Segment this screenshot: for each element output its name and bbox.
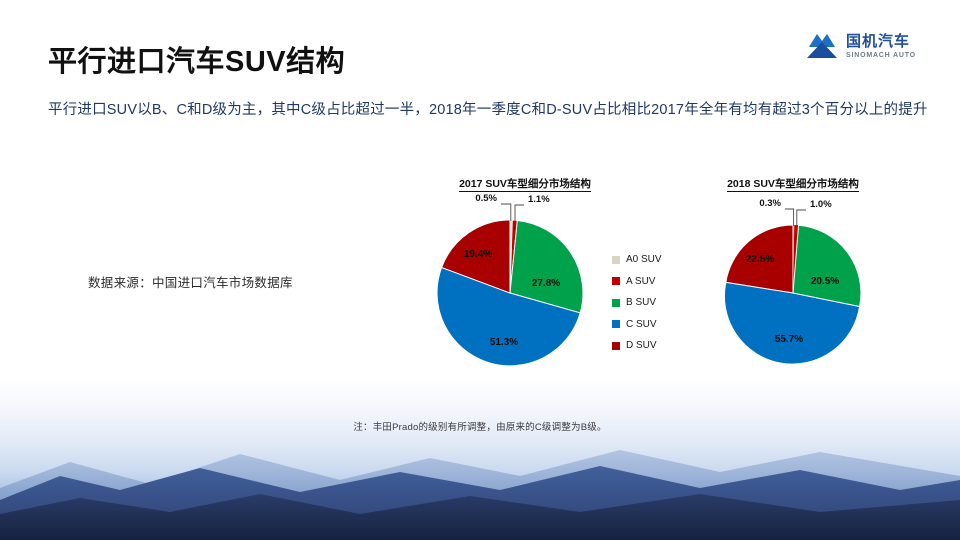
pie-2018-svg: 0.3% 1.0% 20.5% 55.7% 22.5% — [688, 190, 898, 376]
legend-label-c: C SUV — [626, 319, 657, 330]
chart-legend: A0 SUV A SUV B SUV C SUV D SUV — [612, 254, 662, 351]
label-a0-2018: 0.3% — [759, 198, 781, 209]
data-source-label: 数据来源：中国进口汽车市场数据库 — [88, 272, 293, 291]
mountain-ridges-icon — [0, 380, 960, 540]
slide-canvas: T OP 100 2018中国汽车经销商集团百强排行榜 LIST OF CHIN… — [0, 0, 960, 540]
page-subtitle: 平行进口SUV以B、C和D级为主，其中C级占比超过一半，2018年一季度C和D-… — [48, 100, 928, 121]
legend-label-a0: A0 SUV — [626, 254, 662, 265]
logo-english: SINOMACH AUTO — [846, 52, 916, 59]
mountain-logo-icon — [805, 31, 839, 61]
label-c-2017: 51.3% — [490, 337, 518, 348]
label-b-2018: 20.5% — [811, 276, 839, 287]
page-title: 平行进口汽车SUV结构 — [48, 38, 345, 80]
legend-swatch-a0 — [612, 256, 620, 264]
label-b-2017: 27.8% — [532, 278, 560, 289]
chart-2017-title: 2017 SUV车型细分市场结构 — [400, 176, 650, 191]
sinomach-logo: 国机汽车 SINOMACH AUTO — [805, 26, 945, 66]
pie-2017-svg: 0.5% 1.1% 27.8% 51.3% 19.4% — [400, 190, 630, 376]
logo-text-block: 国机汽车 SINOMACH AUTO — [846, 34, 916, 59]
label-d-2018: 22.5% — [746, 254, 774, 265]
legend-item-a: A SUV — [612, 276, 662, 287]
chart-2018-pie: 0.3% 1.0% 20.5% 55.7% 22.5% — [688, 190, 898, 376]
label-d-2017: 19.4% — [464, 249, 492, 260]
chart-2018-title: 2018 SUV车型细分市场结构 — [688, 176, 898, 191]
legend-item-a0: A0 SUV — [612, 254, 662, 265]
label-a-2018: 1.0% — [810, 199, 832, 210]
legend-swatch-d — [612, 342, 620, 350]
legend-label-b: B SUV — [626, 297, 656, 308]
legend-label-d: D SUV — [626, 340, 657, 351]
legend-swatch-a — [612, 277, 620, 285]
mountain-photo-band: T OP 100 2018中国汽车经销商集团百强排行榜 LIST OF CHIN… — [0, 380, 960, 540]
legend-item-d: D SUV — [612, 340, 662, 351]
chart-2017: 2017 SUV车型细分市场结构 0.5% 1.1% — [400, 176, 650, 376]
chart-2017-pie: 0.5% 1.1% 27.8% 51.3% 19.4% — [400, 190, 630, 376]
legend-item-c: C SUV — [612, 319, 662, 330]
legend-swatch-b — [612, 299, 620, 307]
label-c-2018: 55.7% — [775, 334, 803, 345]
legend-swatch-c — [612, 320, 620, 328]
legend-label-a: A SUV — [626, 276, 655, 287]
logo-chinese: 国机汽车 — [846, 34, 916, 49]
chart-2018: 2018 SUV车型细分市场结构 — [688, 176, 898, 376]
label-a-2017: 1.1% — [528, 194, 550, 205]
label-a0-2017: 0.5% — [475, 193, 497, 204]
legend-item-b: B SUV — [612, 297, 662, 308]
footnote: 注：丰田Prado的级别有所调整，由原来的C级调整为B级。 — [0, 419, 960, 433]
